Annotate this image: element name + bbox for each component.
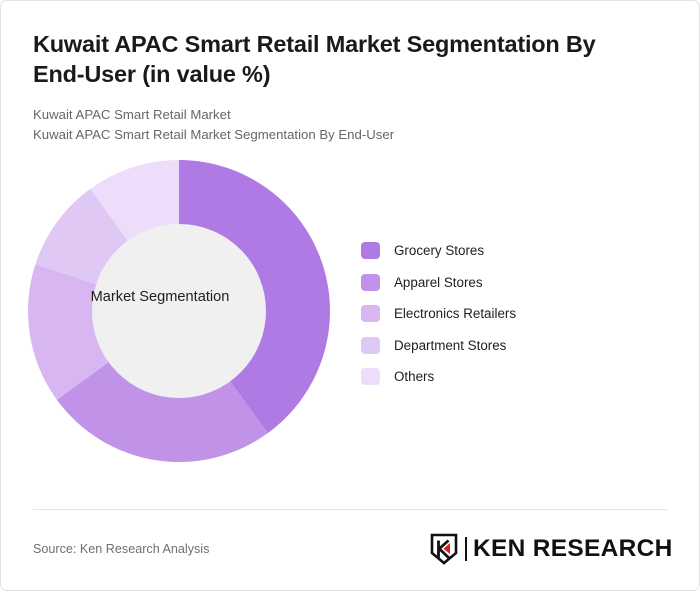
legend-label: Others bbox=[394, 369, 434, 384]
logo-separator-bar bbox=[465, 537, 467, 561]
ken-research-k-monogram-icon bbox=[429, 533, 459, 565]
ken-research-logo: KEN RESEARCH bbox=[429, 533, 671, 565]
source-note: Source: Ken Research Analysis bbox=[33, 542, 209, 556]
subtitle-segmentation: Kuwait APAC Smart Retail Market Segmenta… bbox=[33, 125, 667, 145]
donut-ring bbox=[28, 160, 330, 462]
legend-label: Grocery Stores bbox=[394, 243, 484, 258]
legend-swatch-icon bbox=[361, 305, 380, 322]
legend-item[interactable]: Apparel Stores bbox=[361, 274, 679, 291]
legend-item[interactable]: Electronics Retailers bbox=[361, 305, 679, 322]
subtitle-market: Kuwait APAC Smart Retail Market bbox=[33, 105, 667, 125]
page-title: Kuwait APAC Smart Retail Market Segmenta… bbox=[33, 29, 653, 89]
legend-label: Apparel Stores bbox=[394, 275, 483, 290]
chart-header: Kuwait APAC Smart Retail Market Segmenta… bbox=[1, 1, 699, 146]
legend-item[interactable]: Others bbox=[361, 368, 679, 385]
subtitle-group: Kuwait APAC Smart Retail Market Kuwait A… bbox=[33, 105, 667, 146]
donut-hole bbox=[92, 224, 266, 398]
chart-card: Kuwait APAC Smart Retail Market Segmenta… bbox=[0, 0, 700, 591]
legend-swatch-icon bbox=[361, 368, 380, 385]
legend-swatch-icon bbox=[361, 242, 380, 259]
chart-footer: Source: Ken Research Analysis KEN RESEAR… bbox=[33, 529, 671, 569]
donut-svg bbox=[28, 160, 330, 462]
donut-chart: Market Segmentation bbox=[9, 146, 349, 476]
legend-swatch-icon bbox=[361, 274, 380, 291]
footer-divider bbox=[33, 509, 667, 510]
chart-body: Market Segmentation Grocery StoresAppare… bbox=[1, 146, 699, 476]
legend-swatch-icon bbox=[361, 337, 380, 354]
logo-wordmark: KEN RESEARCH bbox=[473, 535, 673, 563]
legend-label: Department Stores bbox=[394, 338, 506, 353]
chart-legend: Grocery StoresApparel StoresElectronics … bbox=[349, 242, 699, 385]
legend-item[interactable]: Department Stores bbox=[361, 337, 679, 354]
legend-label: Electronics Retailers bbox=[394, 306, 516, 321]
legend-item[interactable]: Grocery Stores bbox=[361, 242, 679, 259]
